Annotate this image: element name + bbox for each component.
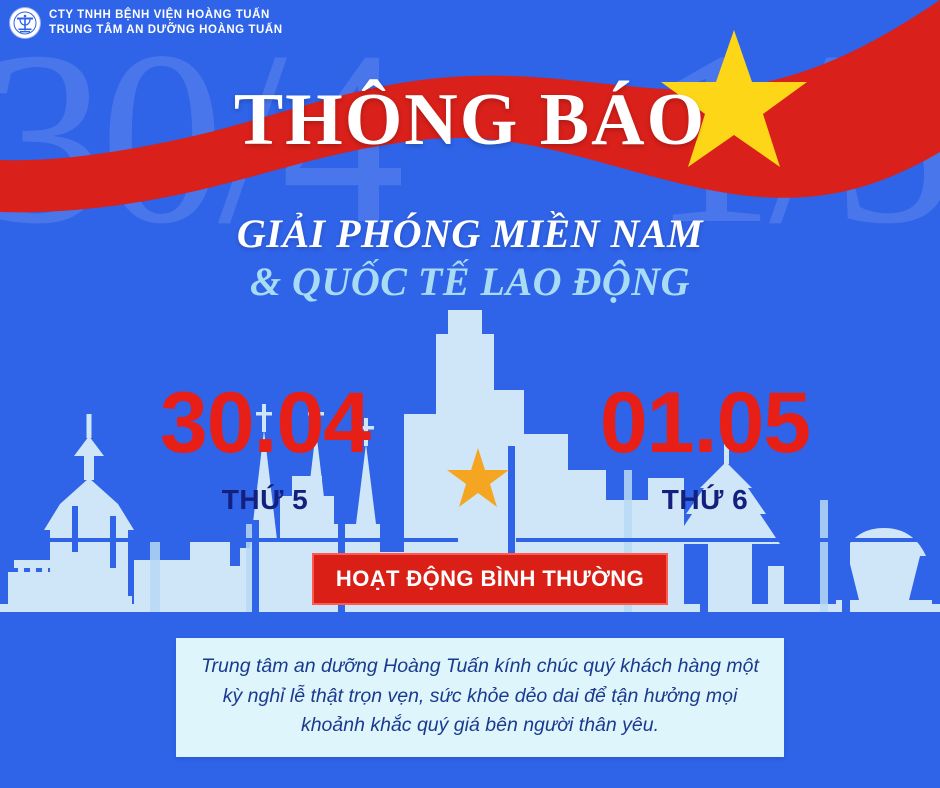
poster-canvas: 30/4 1/5 <box>0 0 940 788</box>
wish-message-text: Trung tâm an dưỡng Hoàng Tuấn kính chúc … <box>198 652 762 741</box>
status-badge-label: HOẠT ĐỘNG BÌNH THƯỜNG <box>336 566 644 592</box>
brand-line-company: CTY TNHH BỆNH VIỆN HOÀNG TUẤN <box>49 9 283 22</box>
subtitle-liberation-day: GIẢI PHÓNG MIỀN NAM <box>0 210 940 257</box>
brand-line-center: TRUNG TÂM AN DƯỠNG HOÀNG TUẤN <box>49 24 283 37</box>
wish-message-box: Trung tâm an dưỡng Hoàng Tuấn kính chúc … <box>176 638 784 757</box>
date-block-second: 01.05 THỨ 6 <box>560 380 850 516</box>
date-block-first: 30.04 THỨ 5 <box>120 380 410 516</box>
hospital-logo-icon <box>10 8 40 38</box>
weekday-label-first: THỨ 5 <box>120 484 410 516</box>
brand-header: CTY TNHH BỆNH VIỆN HOÀNG TUẤN TRUNG TÂM … <box>10 8 283 38</box>
date-number-second: 01.05 <box>560 380 850 466</box>
status-badge: HOẠT ĐỘNG BÌNH THƯỜNG <box>312 553 668 605</box>
divider-rule-left <box>18 538 458 542</box>
brand-text-block: CTY TNHH BỆNH VIỆN HOÀNG TUẤN TRUNG TÂM … <box>49 9 283 37</box>
divider-rule-right <box>516 538 928 542</box>
page-title: THÔNG BÁO <box>0 78 940 163</box>
weekday-label-second: THỨ 6 <box>560 484 850 516</box>
date-number-first: 30.04 <box>120 380 410 466</box>
subtitle-labour-day: & QUỐC TẾ LAO ĐỘNG <box>0 258 940 305</box>
